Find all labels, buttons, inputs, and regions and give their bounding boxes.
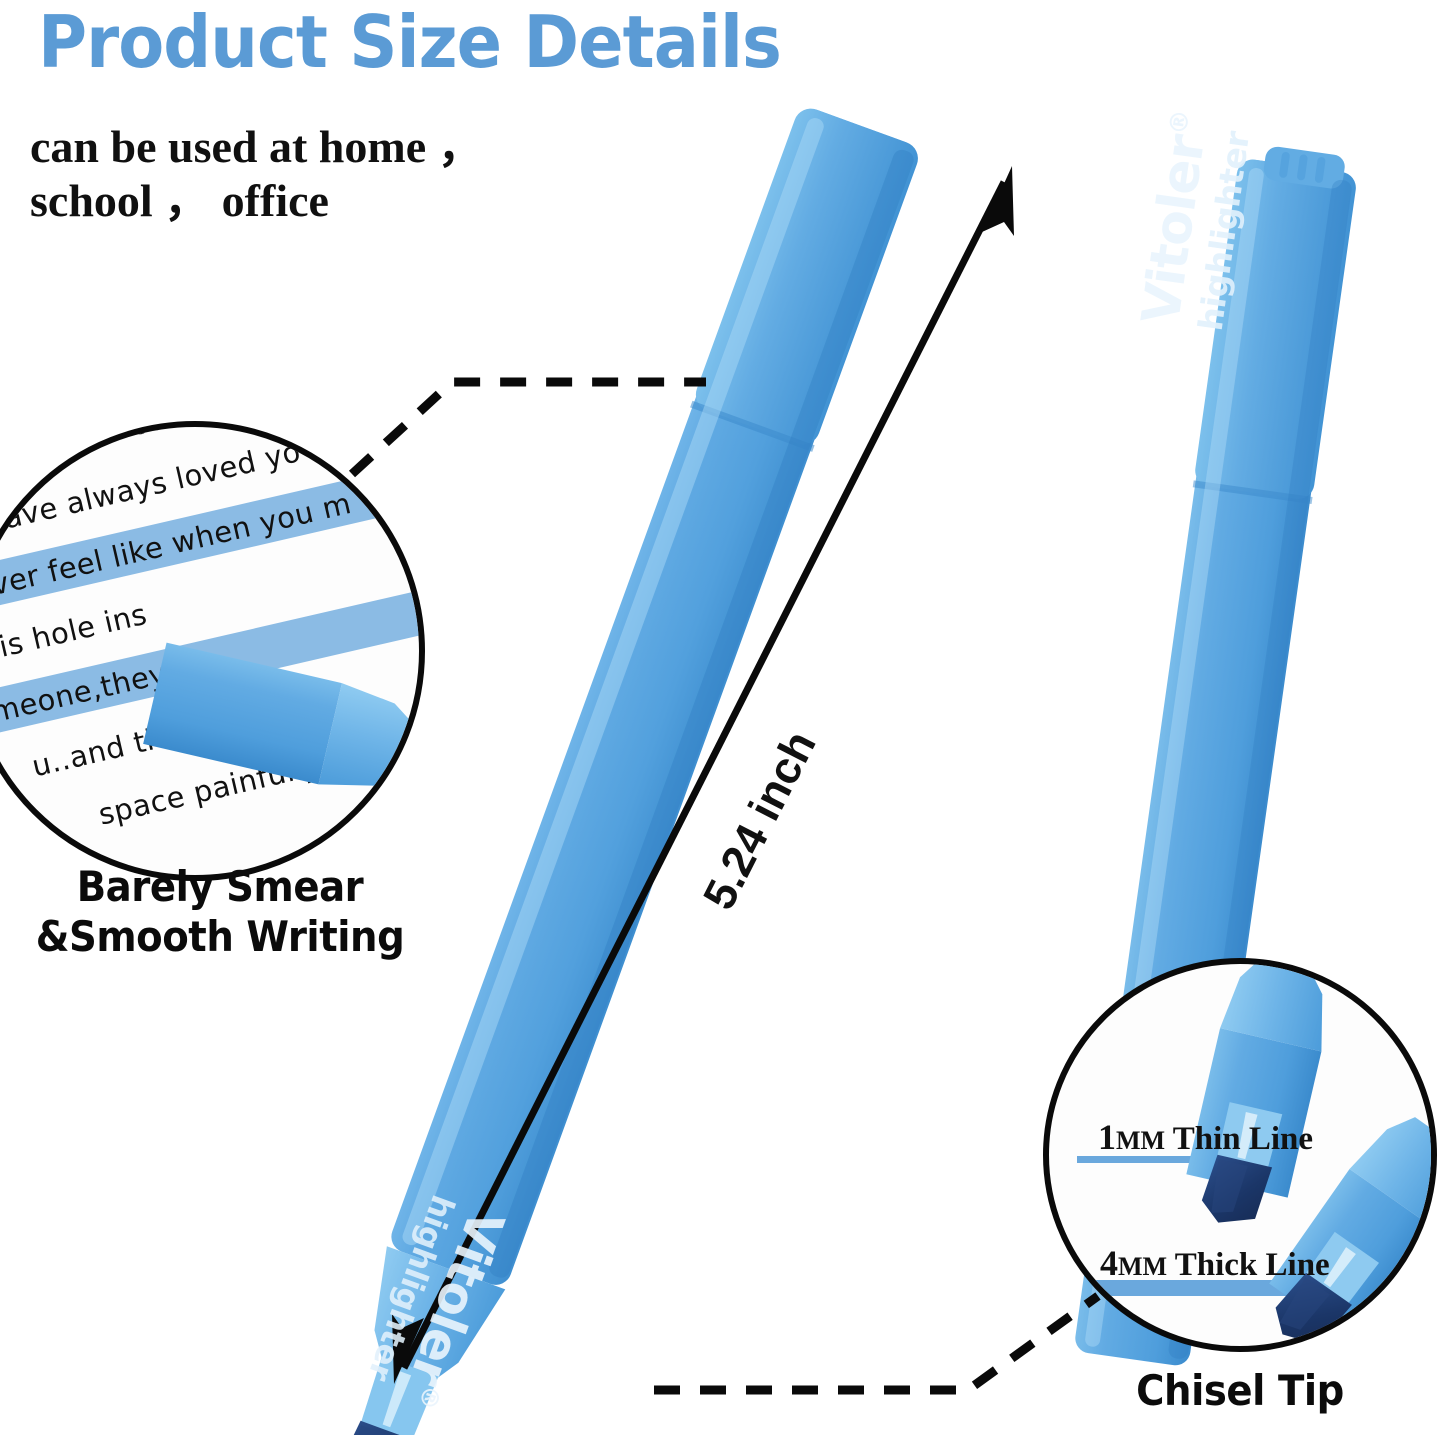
label-thin-line: 1MM Thin Line — [1098, 1116, 1313, 1158]
highlighter-tips-chisel-circle — [1049, 964, 1437, 1352]
highlighter-in-smear-circle — [0, 427, 425, 881]
callout-circle-smear: always known y s have always loved yo u … — [0, 421, 425, 881]
brand-print-right: Vitoler® highlighter — [1103, 233, 1392, 497]
caption-barely-smear: Barely Smear &Smooth Writing — [27, 862, 413, 962]
product-detail-image: Product Size Details can be used at home… — [0, 0, 1445, 1435]
leader-line-chisel — [654, 1296, 1098, 1390]
label-thick-line: 4MM Thick Line — [1100, 1242, 1330, 1284]
registered-mark: ® — [1163, 109, 1195, 137]
caption-chisel-tip: Chisel Tip — [1074, 1366, 1405, 1416]
